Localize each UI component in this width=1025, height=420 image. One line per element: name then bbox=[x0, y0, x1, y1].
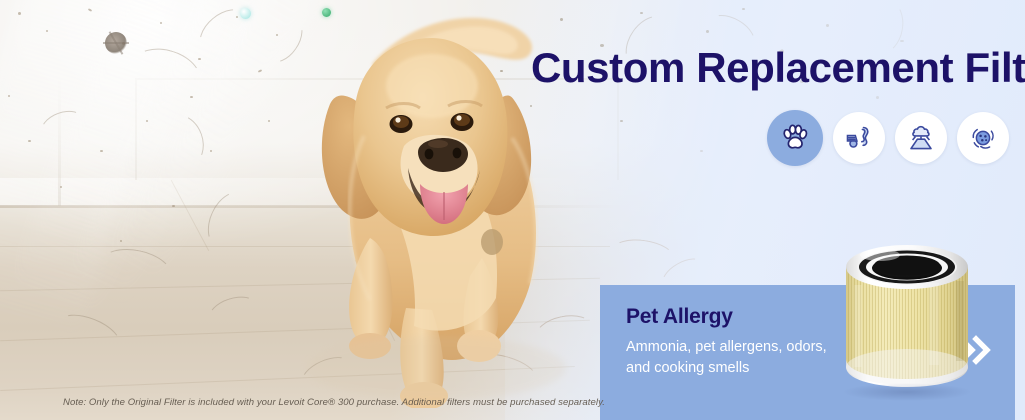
filter-drop-shadow bbox=[842, 383, 972, 401]
virus-germ-icon bbox=[968, 123, 998, 153]
promo-card-description: Ammonia, pet allergens, odors, and cooki… bbox=[626, 337, 856, 378]
filter-type-pet-allergy[interactable] bbox=[767, 110, 823, 166]
promo-desc-line-1: Ammonia, pet allergens, odors, bbox=[626, 337, 856, 358]
promo-desc-line-2: and cooking smells bbox=[626, 358, 856, 379]
filter-type-toxin-absorber[interactable] bbox=[895, 112, 947, 164]
replacement-filter-product bbox=[836, 231, 978, 397]
filter-type-mold-bacteria[interactable] bbox=[957, 112, 1009, 164]
smoke-vacuum-icon bbox=[844, 123, 874, 153]
paw-icon bbox=[778, 121, 812, 155]
filter-type-icon-row bbox=[767, 110, 1009, 166]
disclaimer-note: Note: Only the Original Filter is includ… bbox=[63, 397, 605, 408]
page-title: Custom Replacement Filters bbox=[531, 44, 1001, 92]
toxin-volcano-icon bbox=[906, 123, 936, 153]
filter-type-smoke-remover[interactable] bbox=[833, 112, 885, 164]
custom-replacement-filters-banner: Custom Replacement Filters bbox=[0, 0, 1025, 420]
